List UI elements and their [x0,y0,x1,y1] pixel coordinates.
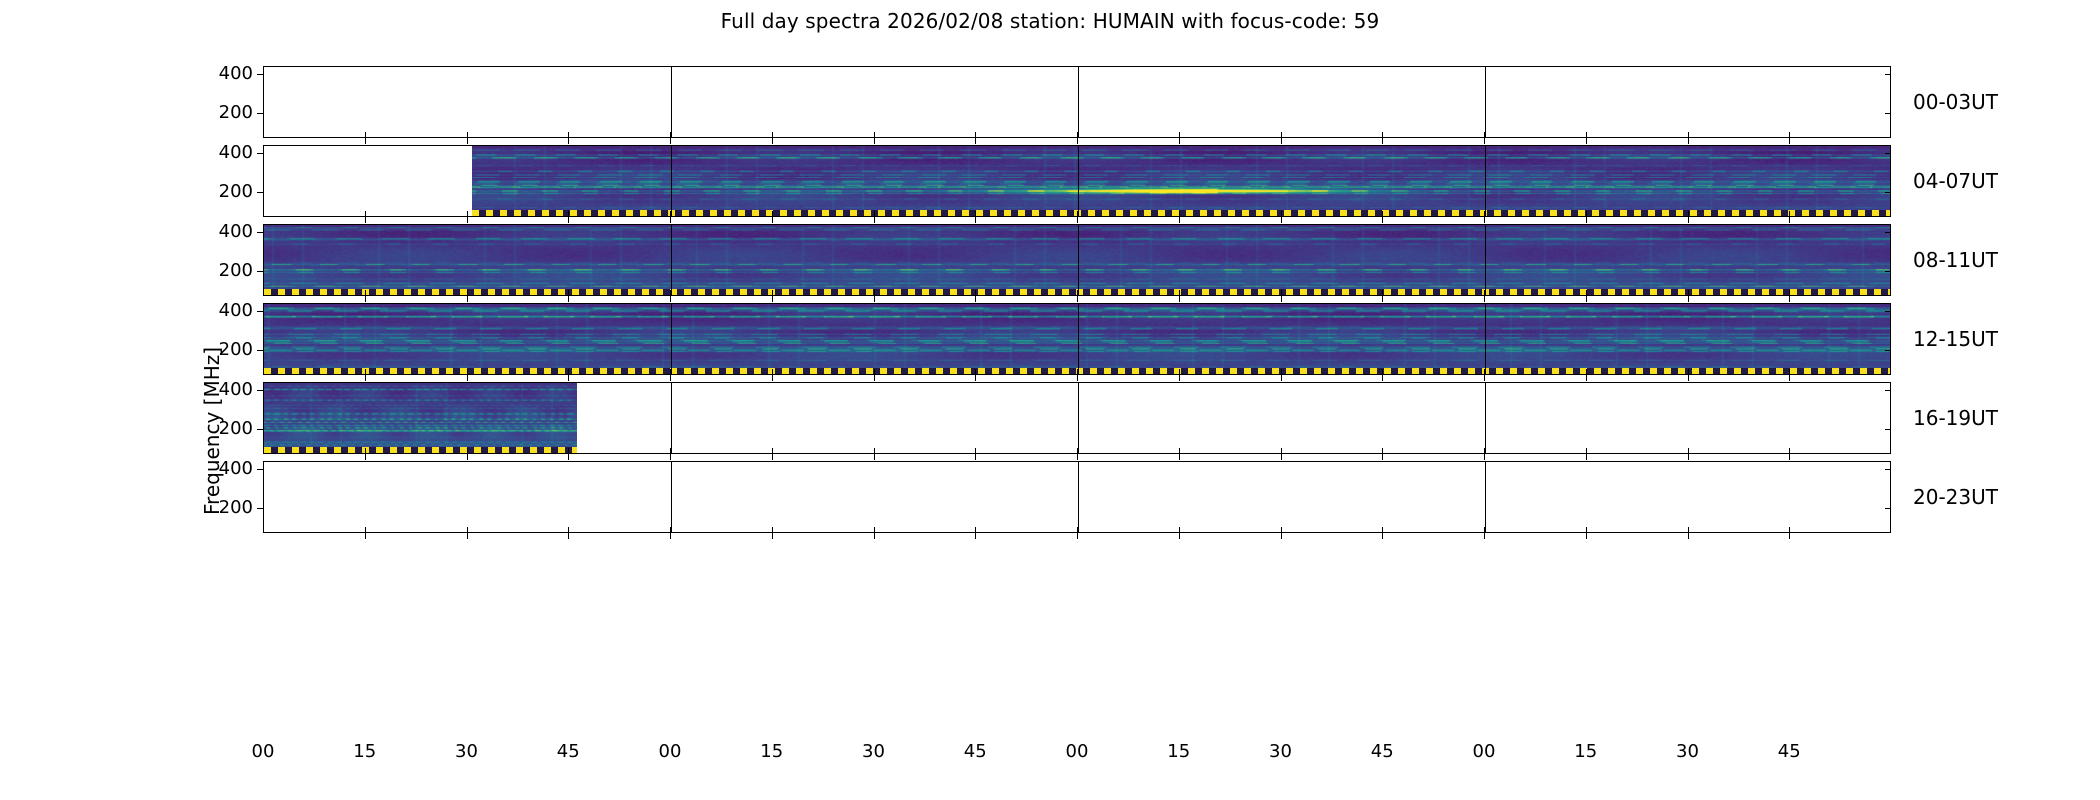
x-tick-mark-inner [467,290,468,296]
hour-separator [1078,462,1079,532]
x-tick-mark-inner [1789,369,1790,375]
x-tick-mark-inner [1077,290,1078,296]
x-tick-mark-inner [1484,290,1485,296]
x-tick-mark-inner [467,211,468,217]
x-tick-mark [874,533,875,539]
hour-separator [1078,383,1079,453]
y-tick-mark-inner [1885,311,1891,312]
x-tick-mark [1382,454,1383,460]
x-tick-mark [1281,454,1282,460]
x-tick-label: 15 [1167,741,1190,762]
x-tick-mark [975,296,976,302]
x-tick-mark [1789,217,1790,223]
x-tick-mark [1179,375,1180,381]
y-tick-mark-inner [1885,192,1891,193]
x-tick-mark [1688,138,1689,144]
x-tick-mark-inner [1382,132,1383,138]
x-tick-mark [1179,296,1180,302]
x-tick-label: 45 [964,741,987,762]
x-tick-mark-inner [365,132,366,138]
x-tick-mark-inner [1688,132,1689,138]
x-tick-mark [1789,454,1790,460]
x-tick-mark-inner [1077,527,1078,533]
panel-time-label: 20-23UT [1913,485,1998,509]
x-tick-mark-inner [1179,448,1180,454]
x-tick-mark-inner [568,290,569,296]
hour-separator [671,304,672,374]
y-tick-mark-inner [1885,469,1891,470]
x-tick-mark-inner [670,448,671,454]
x-tick-mark-inner [874,448,875,454]
x-tick-mark [772,217,773,223]
spectrogram-panel[interactable]: 400200 [263,382,1891,454]
x-tick-mark [670,217,671,223]
y-tick-label: 400 [219,302,253,320]
x-tick-mark [568,217,569,223]
panel-axes [263,224,1891,296]
x-tick-mark [874,296,875,302]
x-tick-mark-inner [1484,211,1485,217]
hour-separator [1485,462,1486,532]
x-tick-mark-inner [1281,527,1282,533]
x-tick-label: 15 [760,741,783,762]
x-tick-mark-inner [1484,132,1485,138]
panel-time-label: 16-19UT [1913,406,1998,430]
x-tick-mark-inner [365,527,366,533]
x-tick-mark [874,217,875,223]
x-tick-mark [365,375,366,381]
y-tick-mark [257,192,263,193]
hour-separator [671,146,672,216]
hour-separator [671,67,672,137]
x-tick-mark [1484,454,1485,460]
y-tick-mark [257,311,263,312]
hour-separator [671,383,672,453]
x-tick-mark-inner [1586,527,1587,533]
x-tick-mark-inner [1281,132,1282,138]
x-tick-mark [670,533,671,539]
x-tick-mark [467,454,468,460]
x-tick-mark-inner [975,448,976,454]
y-tick-mark-inner [1885,271,1891,272]
x-tick-mark [1586,533,1587,539]
x-tick-mark [568,454,569,460]
x-tick-mark-inner [670,369,671,375]
x-tick-mark [1789,138,1790,144]
x-tick-label: 00 [252,741,275,762]
x-tick-mark [1789,296,1790,302]
y-tick-mark-inner [1885,113,1891,114]
x-tick-mark [1077,138,1078,144]
y-tick-label: 200 [219,420,253,438]
x-tick-mark-inner [1484,369,1485,375]
y-tick-mark-inner [1885,508,1891,509]
y-tick-label: 200 [219,104,253,122]
x-tick-mark [1688,454,1689,460]
y-tick-mark [257,350,263,351]
x-tick-mark-inner [1281,290,1282,296]
x-tick-mark [1484,217,1485,223]
x-tick-mark-inner [568,369,569,375]
x-tick-mark-inner [1179,527,1180,533]
x-tick-mark [1484,375,1485,381]
panel-axes [263,145,1891,217]
x-tick-mark [670,375,671,381]
x-tick-mark-inner [1382,448,1383,454]
x-tick-label: 45 [557,741,580,762]
x-tick-mark-inner [874,290,875,296]
x-tick-mark-inner [1382,290,1383,296]
x-tick-mark [1484,533,1485,539]
hour-separator [1485,67,1486,137]
spectrogram-panel[interactable]: 400200 [263,224,1891,296]
x-tick-mark [670,454,671,460]
x-tick-mark [467,138,468,144]
x-tick-mark [1586,217,1587,223]
x-tick-mark [365,296,366,302]
x-tick-mark [670,296,671,302]
y-tick-mark-inner [1885,153,1891,154]
x-tick-mark [1382,533,1383,539]
y-tick-label: 400 [219,460,253,478]
panel-time-label: 12-15UT [1913,327,1998,351]
y-tick-mark [257,113,263,114]
x-tick-mark [1586,454,1587,460]
x-tick-mark-inner [1281,369,1282,375]
spectrogram-panel[interactable]: 400200 [263,66,1891,138]
x-tick-mark-inner [1179,211,1180,217]
x-tick-mark-inner [1789,290,1790,296]
x-tick-mark-inner [975,211,976,217]
spectrogram-image [264,383,577,453]
x-tick-mark [1789,375,1790,381]
x-tick-mark [1077,533,1078,539]
panel-time-label: 04-07UT [1913,169,1998,193]
x-tick-mark-inner [1179,369,1180,375]
x-tick-mark-inner [1077,369,1078,375]
x-tick-mark-inner [772,527,773,533]
x-tick-mark-inner [670,527,671,533]
y-tick-label: 400 [219,381,253,399]
hour-separator [1485,304,1486,374]
x-tick-mark-inner [568,448,569,454]
x-tick-label: 30 [1269,741,1292,762]
x-tick-mark-inner [1688,369,1689,375]
spectrogram-panel[interactable]: 400200 [263,461,1891,533]
y-axis-label: Frequency [MHz] [186,75,210,295]
y-tick-mark [257,271,263,272]
x-tick-mark-inner [467,369,468,375]
x-tick-mark-inner [1688,290,1689,296]
x-tick-mark-inner [975,132,976,138]
x-tick-mark-inner [772,211,773,217]
x-tick-mark [1484,138,1485,144]
x-tick-mark-inner [1077,211,1078,217]
x-tick-mark [772,296,773,302]
x-tick-mark-inner [874,211,875,217]
time-marker-strip [264,447,577,453]
x-tick-mark [467,217,468,223]
x-tick-mark-inner [1077,132,1078,138]
x-tick-mark [1179,138,1180,144]
x-tick-mark [467,533,468,539]
x-tick-mark [670,138,671,144]
x-tick-mark-inner [365,448,366,454]
y-tick-mark-inner [1885,74,1891,75]
x-tick-mark-inner [1382,369,1383,375]
x-tick-mark [1179,454,1180,460]
x-tick-mark [1484,296,1485,302]
x-tick-mark-inner [365,211,366,217]
spectrogram-panel[interactable]: 400200 [263,145,1891,217]
x-tick-mark-inner [772,448,773,454]
x-tick-mark [1586,375,1587,381]
x-tick-mark-inner [1382,211,1383,217]
x-tick-mark-inner [1077,448,1078,454]
y-tick-mark [257,508,263,509]
x-tick-label: 00 [1473,741,1496,762]
x-tick-mark [874,375,875,381]
panel-axes [263,66,1891,138]
x-tick-mark-inner [365,290,366,296]
x-tick-mark-inner [670,132,671,138]
hour-separator [1485,146,1486,216]
panel-time-label: 08-11UT [1913,248,1998,272]
spectrogram-panel[interactable]: 400200 [263,303,1891,375]
x-tick-mark [1281,533,1282,539]
x-tick-mark [467,296,468,302]
x-tick-mark-inner [1688,448,1689,454]
x-tick-mark-inner [1281,211,1282,217]
y-tick-mark [257,429,263,430]
x-tick-mark [568,533,569,539]
x-tick-mark [1077,296,1078,302]
hour-separator [671,225,672,295]
x-tick-mark [1789,533,1790,539]
hour-separator [1485,383,1486,453]
x-tick-mark [1688,375,1689,381]
x-tick-mark [1382,296,1383,302]
page-title: Full day spectra 2026/02/08 station: HUM… [0,9,2100,33]
x-tick-mark-inner [975,527,976,533]
x-tick-mark-inner [772,290,773,296]
time-marker-strip [472,210,1891,216]
x-tick-mark [975,375,976,381]
y-tick-label: 200 [219,262,253,280]
x-tick-mark-inner [568,527,569,533]
hour-separator [671,462,672,532]
x-tick-mark [1179,533,1180,539]
x-tick-mark-inner [1484,448,1485,454]
x-tick-mark [1382,375,1383,381]
x-tick-label: 00 [659,741,682,762]
x-tick-mark [772,375,773,381]
x-tick-mark [1077,454,1078,460]
y-tick-label: 200 [219,341,253,359]
x-tick-mark [365,533,366,539]
x-tick-mark-inner [772,369,773,375]
spectrogram-image [472,146,1891,216]
panel-axes [263,303,1891,375]
x-tick-mark-inner [1586,132,1587,138]
x-tick-mark-inner [1688,527,1689,533]
x-tick-mark-inner [1586,448,1587,454]
x-tick-mark-inner [467,448,468,454]
x-tick-mark-inner [874,369,875,375]
hour-separator [1485,225,1486,295]
x-tick-label: 00 [1066,741,1089,762]
panel-axes [263,461,1891,533]
hour-separator [1078,146,1079,216]
x-tick-mark [975,138,976,144]
y-tick-mark [257,469,263,470]
x-tick-label: 45 [1778,741,1801,762]
y-tick-mark [257,153,263,154]
x-tick-mark [874,454,875,460]
x-tick-mark [772,454,773,460]
x-tick-mark [1281,217,1282,223]
x-tick-mark-inner [975,290,976,296]
x-tick-mark-inner [568,132,569,138]
x-tick-mark-inner [1789,527,1790,533]
x-tick-mark-inner [1179,132,1180,138]
y-tick-mark-inner [1885,429,1891,430]
x-tick-mark-inner [1382,527,1383,533]
x-tick-mark [1179,217,1180,223]
spectrogram-figure: Full day spectra 2026/02/08 station: HUM… [0,0,2100,800]
x-tick-mark [568,138,569,144]
panel-axes [263,382,1891,454]
y-tick-label: 200 [219,499,253,517]
y-tick-mark-inner [1885,350,1891,351]
y-tick-label: 400 [219,223,253,241]
x-tick-mark [365,217,366,223]
y-tick-label: 400 [219,65,253,83]
x-tick-mark [1586,296,1587,302]
x-tick-mark-inner [874,132,875,138]
x-tick-mark-inner [1586,211,1587,217]
x-tick-mark-inner [1484,527,1485,533]
x-tick-mark [365,454,366,460]
x-tick-mark [1077,217,1078,223]
x-tick-label: 30 [862,741,885,762]
y-tick-mark-inner [1885,232,1891,233]
x-tick-mark [467,375,468,381]
x-tick-mark-inner [568,211,569,217]
y-tick-mark [257,74,263,75]
x-tick-mark-inner [670,290,671,296]
x-tick-mark [1382,217,1383,223]
x-tick-mark [1077,375,1078,381]
x-tick-label: 15 [353,741,376,762]
y-tick-label: 200 [219,183,253,201]
x-tick-mark-inner [1688,211,1689,217]
x-tick-mark [1281,375,1282,381]
x-tick-mark-inner [1586,369,1587,375]
x-tick-mark [772,138,773,144]
x-tick-mark [975,454,976,460]
x-tick-mark [874,138,875,144]
x-tick-mark [975,533,976,539]
x-tick-label: 15 [1574,741,1597,762]
x-tick-mark-inner [670,211,671,217]
y-tick-mark [257,232,263,233]
x-tick-mark-inner [1281,448,1282,454]
x-tick-mark [568,296,569,302]
x-tick-mark [1281,138,1282,144]
y-tick-mark [257,390,263,391]
x-tick-mark-inner [975,369,976,375]
x-tick-mark [772,533,773,539]
x-tick-mark [365,138,366,144]
hour-separator [1078,67,1079,137]
x-tick-mark-inner [1789,448,1790,454]
x-tick-mark-inner [1179,290,1180,296]
x-tick-label: 30 [455,741,478,762]
x-tick-mark-inner [874,527,875,533]
x-tick-mark [1281,296,1282,302]
x-tick-mark [1382,138,1383,144]
hour-separator [1078,225,1079,295]
x-tick-mark [975,217,976,223]
x-tick-label: 45 [1371,741,1394,762]
x-tick-mark-inner [1789,132,1790,138]
x-tick-label: 30 [1676,741,1699,762]
x-tick-mark [1688,533,1689,539]
x-tick-mark-inner [1789,211,1790,217]
x-tick-mark-inner [772,132,773,138]
x-tick-mark-inner [467,527,468,533]
y-tick-mark-inner [1885,390,1891,391]
y-tick-label: 400 [219,144,253,162]
x-tick-mark-inner [365,369,366,375]
hour-separator [1078,304,1079,374]
x-tick-mark-inner [467,132,468,138]
panel-time-label: 00-03UT [1913,90,1998,114]
x-tick-mark [568,375,569,381]
x-tick-mark [1688,296,1689,302]
x-tick-mark [1586,138,1587,144]
x-tick-mark-inner [1586,290,1587,296]
x-tick-mark [1688,217,1689,223]
